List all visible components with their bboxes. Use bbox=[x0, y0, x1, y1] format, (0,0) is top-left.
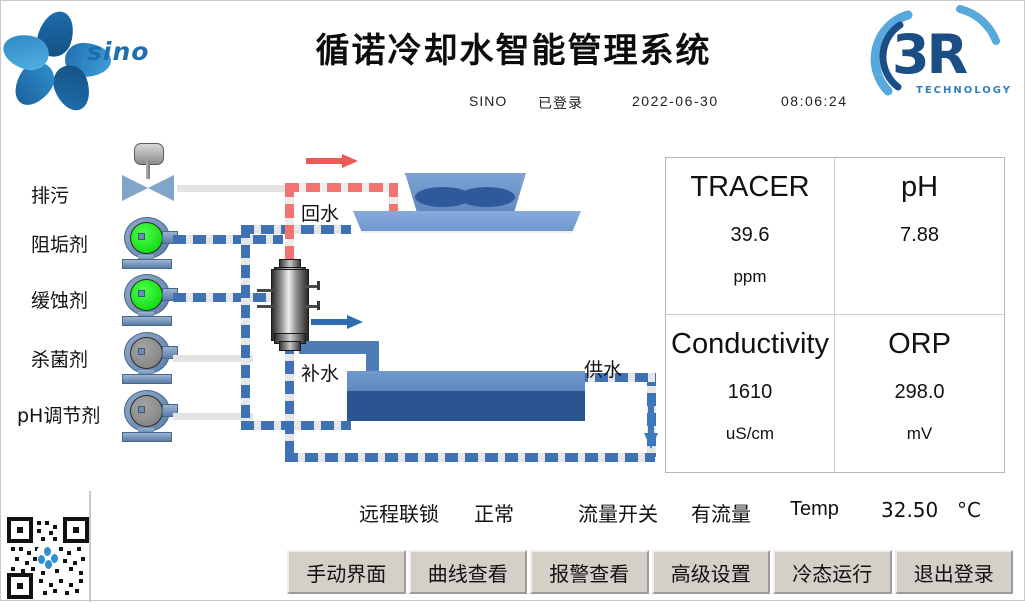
label-supply-water: 供水 bbox=[584, 355, 622, 382]
readout-value: 1610 bbox=[728, 381, 773, 404]
manual-interface-button[interactable]: 手动界面 bbox=[287, 550, 406, 594]
readout-value: 39.6 bbox=[731, 224, 770, 247]
system-time: 08:06:24 bbox=[781, 93, 848, 109]
pump-status-indicator bbox=[130, 279, 163, 311]
readout-name: ORP bbox=[888, 329, 951, 361]
vessel-probe-left-upper-icon bbox=[257, 289, 273, 292]
pipe-return-horizontal bbox=[285, 183, 397, 192]
readout-unit: mV bbox=[907, 424, 933, 444]
vessel-probe-left-lower-icon bbox=[257, 305, 273, 308]
qr-code bbox=[7, 517, 89, 599]
label-makeup-water: 补水 bbox=[301, 359, 339, 386]
readout-name: pH bbox=[901, 172, 938, 204]
pipe-return-to-tower bbox=[389, 183, 398, 215]
pipe-loop-bottom bbox=[241, 421, 351, 430]
vessel-probe-tip-upper-icon bbox=[317, 281, 320, 290]
tower-fill-pack bbox=[361, 231, 573, 375]
label-ph-adjuster: pH调节剂 bbox=[17, 401, 100, 428]
measurement-panel: TRACER 39.6 ppm pH 7.88 Conductivity 161… bbox=[665, 157, 1005, 473]
system-date: 2022-06-30 bbox=[632, 93, 719, 109]
cold-start-button[interactable]: 冷态运行 bbox=[773, 550, 892, 594]
pipe-blowdown bbox=[177, 185, 287, 192]
3r-tagline: TECHNOLOGY bbox=[916, 85, 1012, 96]
trend-view-button[interactable]: 曲线查看 bbox=[409, 550, 528, 594]
flow-switch-value: 有流量 bbox=[691, 498, 751, 527]
pump-antiscalant[interactable] bbox=[118, 217, 174, 269]
pipe-return-vertical bbox=[285, 183, 294, 263]
makeup-flow-arrow-icon bbox=[311, 315, 363, 329]
pump-biocide[interactable] bbox=[118, 332, 174, 384]
pipe-vessel-outlet bbox=[285, 341, 294, 461]
status-bar: 远程联锁 正常 流量开关 有流量 Temp 32.50 °C bbox=[1, 498, 1025, 526]
vessel-probe-tip-lower-icon bbox=[317, 301, 320, 310]
3r-wordmark: 3R bbox=[892, 23, 965, 86]
panel-divider bbox=[89, 491, 91, 602]
logout-button[interactable]: 退出登录 bbox=[895, 550, 1014, 594]
temp-label: Temp bbox=[790, 498, 839, 521]
readout-value: 7.88 bbox=[900, 224, 939, 247]
pump-shaft-icon bbox=[138, 233, 145, 240]
valve-body-right-icon bbox=[148, 175, 174, 201]
pipe-loop-top bbox=[241, 225, 351, 234]
pipe-dose-antiscalant bbox=[173, 235, 283, 244]
fan-blade-right-icon bbox=[459, 187, 515, 207]
blowdown-valve[interactable] bbox=[116, 143, 180, 201]
readout-name: Conductivity bbox=[671, 329, 829, 361]
readout-unit: ppm bbox=[733, 267, 766, 287]
qr-center-logo bbox=[37, 547, 59, 569]
hmi-screen: sino 循诺冷却水智能管理系统 SINO 已登录 2022-06-30 08:… bbox=[0, 0, 1025, 601]
remote-interlock-label: 远程联锁 bbox=[359, 498, 439, 527]
temp-value: 32.50 bbox=[881, 498, 938, 522]
pump-corrosion-inhibitor[interactable] bbox=[118, 274, 174, 326]
pump-base-icon bbox=[122, 259, 172, 269]
tower-sump bbox=[347, 391, 585, 421]
analyzer-vessel[interactable] bbox=[267, 259, 311, 349]
pump-base-icon bbox=[122, 374, 172, 384]
pipe-loop-left-vertical bbox=[241, 225, 250, 430]
label-blowdown: 排污 bbox=[31, 181, 69, 208]
label-return-water: 回水 bbox=[301, 199, 339, 226]
pump-status-indicator bbox=[130, 222, 163, 254]
readout-unit: uS/cm bbox=[726, 424, 774, 444]
login-status: 已登录 bbox=[538, 93, 583, 113]
readout-value: 298.0 bbox=[894, 381, 944, 404]
pump-shaft-icon bbox=[138, 290, 145, 297]
pipe-bottom-header bbox=[285, 453, 655, 462]
button-bar: 手动界面 曲线查看 报警查看 高级设置 冷态运行 退出登录 bbox=[287, 550, 1013, 594]
pump-status-indicator bbox=[130, 395, 163, 427]
supply-flow-arrow-icon bbox=[644, 397, 658, 449]
temp-unit: °C bbox=[957, 498, 981, 522]
readout-tracer[interactable]: TRACER 39.6 ppm bbox=[666, 158, 835, 315]
label-corrosion-inhibitor: 缓蚀剂 bbox=[31, 286, 88, 313]
vessel-shell-icon bbox=[271, 269, 309, 341]
pump-base-icon bbox=[122, 432, 172, 442]
remote-interlock-value: 正常 bbox=[474, 498, 514, 527]
label-antiscalant: 阻垢剂 bbox=[31, 230, 88, 257]
tower-basin bbox=[347, 371, 585, 393]
advanced-settings-button[interactable]: 高级设置 bbox=[652, 550, 771, 594]
pump-shaft-icon bbox=[138, 406, 145, 413]
alarm-view-button[interactable]: 报警查看 bbox=[530, 550, 649, 594]
readout-conductivity[interactable]: Conductivity 1610 uS/cm bbox=[666, 315, 835, 472]
3r-technology-logo: 3R TECHNOLOGY bbox=[864, 5, 1016, 115]
pump-shaft-icon bbox=[138, 348, 145, 355]
current-user: SINO bbox=[469, 93, 507, 109]
valve-body-left-icon bbox=[122, 175, 148, 201]
label-biocide: 杀菌剂 bbox=[31, 345, 88, 372]
vessel-bottom-icon bbox=[279, 341, 301, 351]
return-flow-arrow-icon bbox=[306, 154, 358, 168]
readout-orp[interactable]: ORP 298.0 mV bbox=[835, 315, 1004, 472]
pump-status-indicator bbox=[130, 337, 163, 369]
readout-ph[interactable]: pH 7.88 bbox=[835, 158, 1004, 315]
readout-name: TRACER bbox=[690, 172, 809, 204]
flow-switch-label: 流量开关 bbox=[578, 498, 658, 527]
pump-base-icon bbox=[122, 316, 172, 326]
pump-ph-adjuster[interactable] bbox=[118, 390, 174, 442]
tower-top-deck bbox=[353, 211, 581, 233]
